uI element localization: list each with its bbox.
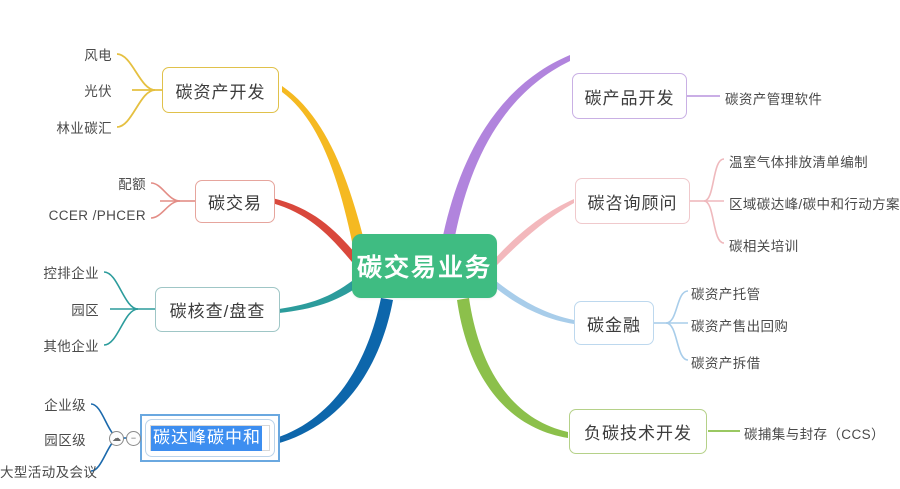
leaf-carbon-product-development-0[interactable]: 碳资产管理软件 bbox=[725, 88, 822, 108]
leaf-label: 碳资产托管 bbox=[691, 287, 761, 302]
center-node[interactable]: 碳交易业务 bbox=[352, 234, 497, 298]
leaf-carbon-trading-0[interactable]: 配额 bbox=[0, 173, 146, 193]
node-label: 碳交易 bbox=[208, 189, 262, 214]
leaf-carbon-finance-1[interactable]: 碳资产售出回购 bbox=[691, 315, 788, 335]
leaf-label: 控排企业 bbox=[43, 266, 99, 281]
node-label: 碳资产开发 bbox=[176, 78, 266, 103]
edit-node-inner: 碳达峰碳中和 bbox=[145, 419, 275, 457]
leaf-label: 光伏 bbox=[84, 84, 112, 99]
leaf-label: 林业碳汇 bbox=[56, 121, 112, 136]
leaf-label: 其他企业 bbox=[43, 339, 99, 354]
leaf-carbon-finance-0[interactable]: 碳资产托管 bbox=[691, 283, 761, 303]
leaf-negative-carbon-tech-0[interactable]: 碳捕集与封存（CCS） bbox=[744, 423, 885, 443]
node-label: 负碳技术开发 bbox=[584, 419, 692, 444]
leaf-carbon-verification-2[interactable]: 其他企业 bbox=[0, 335, 99, 355]
branch-curve-carbon-product-development bbox=[440, 55, 570, 253]
branch-curve-carbon-verification bbox=[279, 281, 359, 313]
selected-text: 碳达峰碳中和 bbox=[151, 426, 262, 451]
leaf-carbon-peak-neutral-0[interactable]: 企业级 bbox=[0, 394, 86, 414]
node-carbon-verification[interactable]: 碳核查/盘查 bbox=[155, 287, 280, 332]
node-carbon-asset-development[interactable]: 碳资产开发 bbox=[162, 67, 279, 113]
leaf-label: 温室气体排放清单编制 bbox=[729, 155, 868, 170]
leaf-label: 碳捕集与封存（CCS） bbox=[744, 427, 885, 442]
cloud-icon[interactable]: ☁ bbox=[109, 431, 124, 446]
leaf-carbon-finance-2[interactable]: 碳资产拆借 bbox=[691, 352, 761, 372]
node-label: 碳咨询顾问 bbox=[588, 189, 678, 214]
leaf-label: CCER /PHCER bbox=[49, 208, 146, 223]
node-carbon-trading[interactable]: 碳交易 bbox=[195, 180, 275, 223]
node-carbon-product-development[interactable]: 碳产品开发 bbox=[572, 73, 687, 119]
leaf-connectors-carbon-consulting bbox=[688, 159, 724, 243]
branch-curve-carbon-consulting bbox=[492, 199, 574, 266]
leaf-label: 碳资产管理软件 bbox=[725, 92, 822, 107]
branch-curve-carbon-peak-neutral bbox=[276, 298, 393, 444]
node-text-input[interactable]: 碳达峰碳中和 bbox=[150, 425, 270, 451]
collapse-minus-icon[interactable]: − bbox=[126, 431, 141, 446]
leaf-label: 碳资产售出回购 bbox=[691, 319, 788, 334]
leaf-label: 企业级 bbox=[44, 398, 86, 413]
leaf-label: 大型活动及会议 bbox=[0, 465, 97, 480]
leaf-carbon-trading-1[interactable]: CCER /PHCER bbox=[0, 208, 146, 223]
leaf-label: 风电 bbox=[84, 48, 112, 63]
leaf-connectors-carbon-verification bbox=[104, 272, 155, 345]
leaf-label: 碳相关培训 bbox=[729, 239, 799, 254]
leaf-connectors-carbon-trading bbox=[151, 183, 196, 218]
node-carbon-consulting[interactable]: 碳咨询顾问 bbox=[575, 178, 690, 224]
leaf-carbon-asset-development-2[interactable]: 林业碳汇 bbox=[0, 117, 112, 137]
leaf-carbon-asset-development-0[interactable]: 风电 bbox=[0, 44, 112, 64]
center-node-label: 碳交易业务 bbox=[357, 248, 492, 284]
node-label: 碳核查/盘查 bbox=[170, 297, 266, 322]
leaf-carbon-consulting-1[interactable]: 区域碳达峰/碳中和行动方案 bbox=[729, 193, 900, 213]
leaf-carbon-consulting-2[interactable]: 碳相关培训 bbox=[729, 235, 799, 255]
branch-curve-carbon-finance bbox=[492, 281, 574, 324]
branch-curve-negative-carbon-tech bbox=[457, 298, 568, 438]
leaf-label: 配额 bbox=[118, 177, 146, 192]
leaf-carbon-verification-0[interactable]: 控排企业 bbox=[0, 262, 99, 282]
leaf-label: 园区 bbox=[71, 303, 99, 318]
leaf-carbon-peak-neutral-1[interactable]: 园区级 bbox=[0, 429, 86, 449]
leaf-carbon-peak-neutral-2[interactable]: 大型活动及会议 bbox=[0, 461, 86, 481]
leaf-carbon-verification-1[interactable]: 园区 bbox=[0, 299, 99, 319]
leaf-label: 园区级 bbox=[44, 433, 86, 448]
leaf-label: 碳资产拆借 bbox=[691, 356, 761, 371]
leaf-label: 区域碳达峰/碳中和行动方案 bbox=[729, 197, 900, 212]
leaf-carbon-consulting-0[interactable]: 温室气体排放清单编制 bbox=[729, 151, 868, 171]
node-negative-carbon-tech[interactable]: 负碳技术开发 bbox=[569, 409, 707, 454]
node-label: 碳金融 bbox=[587, 311, 641, 336]
mindmap-canvas[interactable]: 碳交易业务 碳资产开发 碳交易 碳核查/盘查 碳达峰碳中和 ☁ − 碳产品开发 … bbox=[0, 0, 900, 489]
leaf-connectors-carbon-finance bbox=[652, 291, 688, 360]
node-label: 碳产品开发 bbox=[585, 84, 675, 109]
leaf-carbon-asset-development-1[interactable]: 光伏 bbox=[0, 80, 112, 100]
node-carbon-peak-neutral-editing[interactable]: 碳达峰碳中和 bbox=[140, 414, 280, 462]
node-carbon-finance[interactable]: 碳金融 bbox=[574, 301, 654, 345]
